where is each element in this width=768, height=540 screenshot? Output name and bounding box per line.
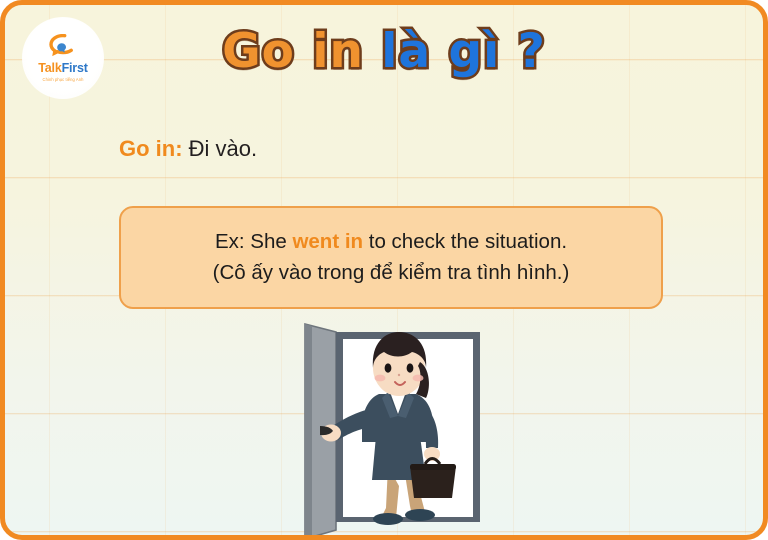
title-part-blue: là gì ? bbox=[381, 24, 546, 79]
definition-line: Go in: Đi vào. bbox=[119, 135, 257, 164]
example-keyword: went in bbox=[292, 230, 363, 253]
example-prefix: Ex: She bbox=[215, 230, 293, 253]
example-box: Ex: She went in to check the situation. … bbox=[119, 206, 663, 309]
woman-entering-door-illustration bbox=[300, 318, 490, 540]
example-sentence-vietnamese: (Cô ấy vào trong để kiểm tra tình hình.) bbox=[213, 259, 570, 287]
definition-keyword: Go in: bbox=[119, 136, 183, 161]
slide-canvas: TalkFirst Chinh phục tiếng Anh Go in là … bbox=[0, 0, 768, 540]
example-sentence-english: Ex: She went in to check the situation. bbox=[215, 228, 567, 256]
page-title: Go in là gì ? bbox=[5, 25, 763, 79]
definition-meaning: Đi vào. bbox=[189, 136, 257, 161]
title-part-orange: Go in bbox=[222, 24, 364, 79]
example-suffix: to check the situation. bbox=[363, 230, 567, 253]
